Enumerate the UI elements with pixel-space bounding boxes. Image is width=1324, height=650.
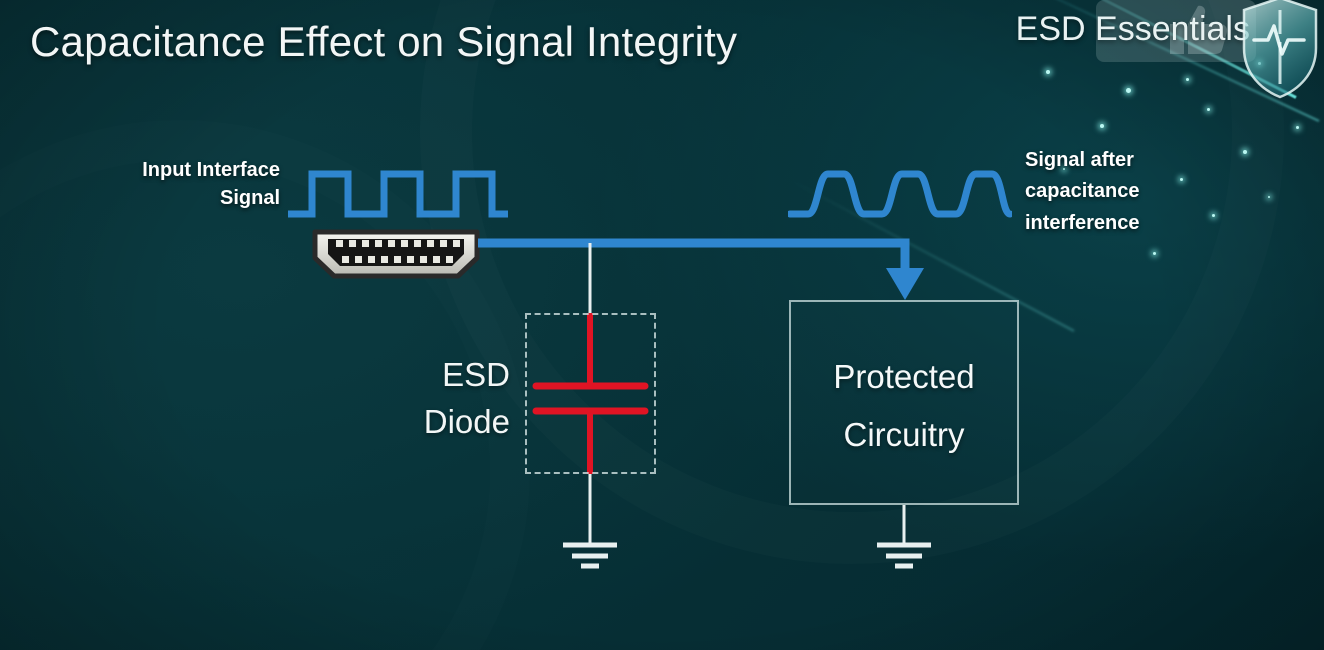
ground-symbol-esd-icon (563, 545, 617, 566)
esd-diode-label: ESD Diode (370, 352, 510, 446)
esd-diode-label-line2: Diode (370, 399, 510, 446)
signal-trace-blue (478, 243, 905, 279)
circuit-schematic (0, 0, 1324, 650)
esd-diode-boundary-box (525, 313, 656, 474)
protected-circuitry-label-line1: Protected (790, 348, 1018, 406)
protected-circuitry-label-line2: Circuitry (790, 406, 1018, 464)
protected-circuitry-label: Protected Circuitry (790, 348, 1018, 464)
esd-diode-label-line1: ESD (370, 352, 510, 399)
ground-symbol-circuitry-icon (877, 545, 931, 566)
slide-canvas: Capacitance Effect on Signal Integrity E… (0, 0, 1324, 650)
signal-arrow-icon (886, 268, 924, 300)
